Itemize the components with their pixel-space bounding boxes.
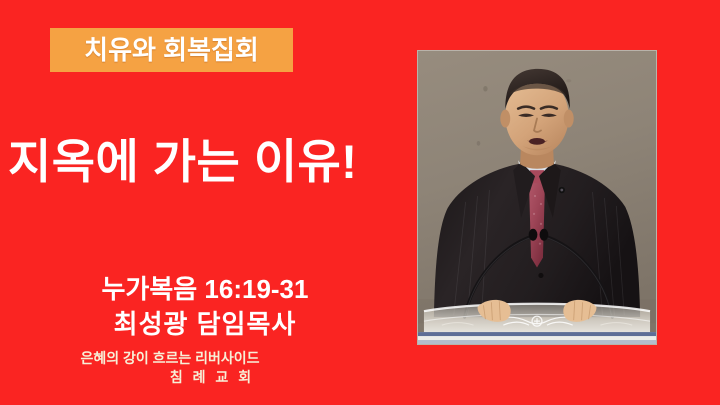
speaker-name: 최성광 담임목사: [0, 307, 410, 342]
preacher-at-pulpit-illustration: [418, 51, 656, 344]
sermon-title-slide: 치유와 회복집회 지옥에 가는 이유! 누가복음 16:19-31 최성광 담임…: [0, 0, 720, 405]
series-badge: 치유와 회복집회: [50, 28, 293, 72]
speaker-photo: [417, 50, 657, 345]
scripture-speaker-block: 누가복음 16:19-31 최성광 담임목사: [0, 272, 410, 342]
church-name: 침 례 교 회: [0, 368, 340, 387]
church-tagline: 은혜의 강이 흐르는 리버사이드: [0, 349, 340, 368]
series-badge-label: 치유와 회복집회: [50, 28, 293, 72]
sermon-headline: 지옥에 가는 이유!: [8, 131, 408, 193]
scripture-reference: 누가복음 16:19-31: [0, 272, 410, 307]
church-name-block: 은혜의 강이 흐르는 리버사이드 침 례 교 회: [0, 349, 340, 387]
